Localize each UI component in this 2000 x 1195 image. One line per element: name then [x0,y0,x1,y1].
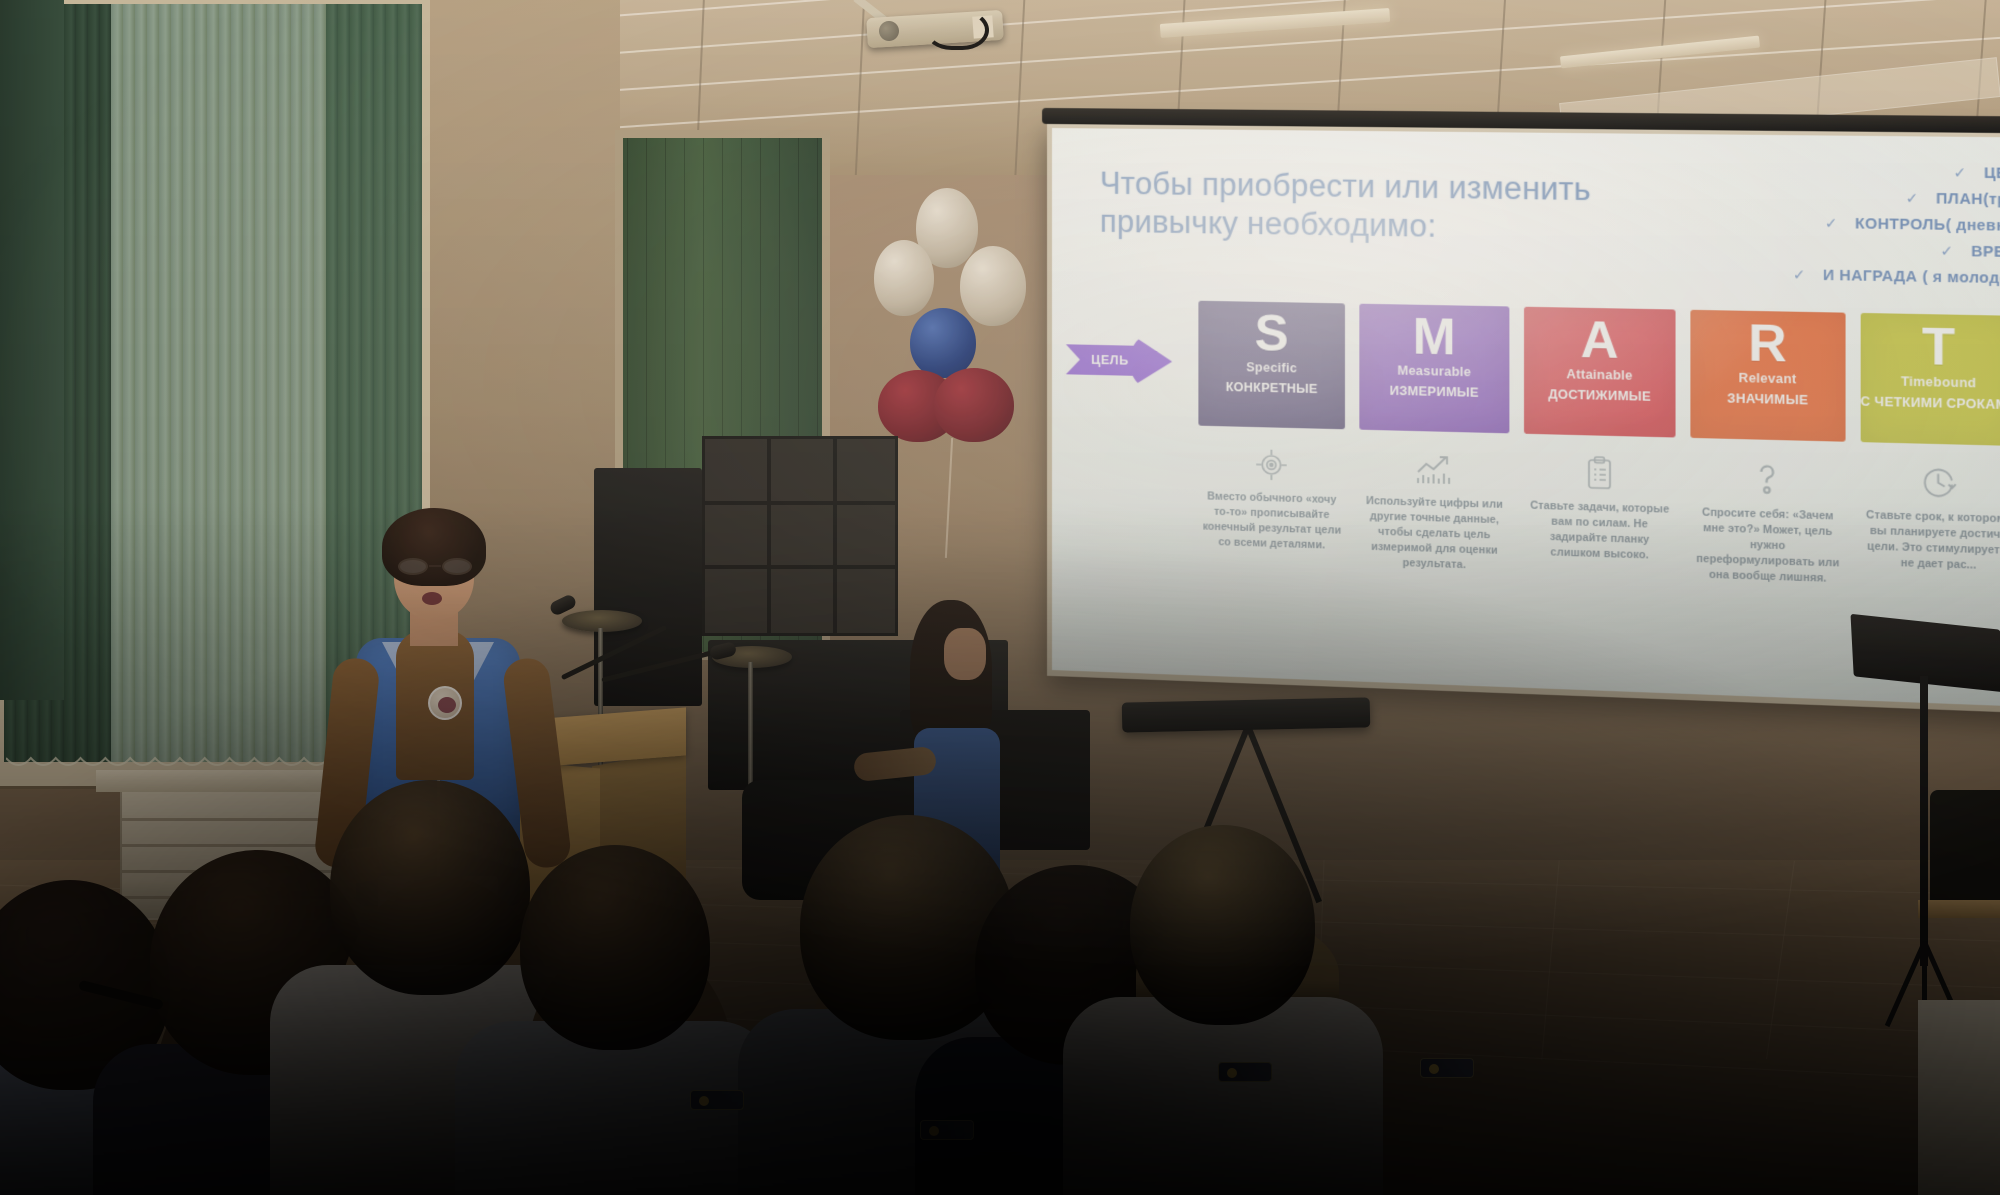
smart-russian-label: ДОСТИЖИМЫЕ [1548,387,1651,405]
check-icon: ✓ [1940,242,1953,260]
smart-column-s: SSpecificКОНКРЕТНЫЕВместо обычного «хочу… [1198,301,1345,571]
check-icon: ✓ [1905,190,1918,208]
checklist-item-5: ✓И НАГРАДА ( я молодец!) [1660,264,2000,288]
bar-chart-growth-icon [1415,451,1454,487]
smart-description: Спросите себя: «Зачем мне это?» Может, ц… [1691,505,1846,587]
audience-woman-long-hair-2-head [330,780,530,995]
smart-box-r: RRelevantЗНАЧИМЫЕ [1691,310,1846,442]
smart-description: Ставьте задачи, которые вам по силам. Не… [1524,498,1676,564]
audience [0,760,2000,1195]
audience-woman-bun-shoulders [1063,997,1383,1195]
smart-columns: SSpecificКОНКРЕТНЫЕВместо обычного «хочу… [1198,301,2000,593]
smart-box-a: AAttainableДОСТИЖИМЫЕ [1524,307,1676,438]
uniform-epaulette-3 [690,1090,744,1110]
smart-letter: S [1255,308,1289,360]
smart-russian-label: ЗНАЧИМЫЕ [1727,391,1808,409]
electronic-keyboard [1122,697,1371,732]
balloon-white-right [960,246,1026,326]
smart-letter: R [1748,317,1787,371]
clock-arrow-icon [1920,464,1957,501]
checklist-item-2: ✓ПЛАН(трек) [1660,186,2000,208]
smart-letter: M [1413,311,1456,364]
balloon-blue [910,308,976,378]
smart-english-label: Attainable [1566,367,1632,383]
target-icon [1254,447,1289,482]
slide-checklist: ✓ЦЕЛЬ✓ПЛАН(трек)✓КОНТРОЛЬ( дневник)✓ВРЕМ… [1660,161,2000,296]
checklist-item-1: ✓ЦЕЛЬ [1660,161,2000,183]
slide-title: Чтобы приобрести или изменить привычку н… [1100,165,1677,250]
smart-russian-label: КОНКРЕТНЫЕ [1226,380,1318,398]
smart-russian-label: С ЧЕТКИМИ СРОКАМИ [1861,394,2000,414]
smart-box-m: MMeasurableИЗМЕРИМЫЕ [1360,304,1509,434]
presenter-mouth [422,592,442,605]
smart-description: Используйте цифры или другие точные данн… [1360,494,1509,574]
slide-title-line-2: привычку необходимо: [1100,202,1677,249]
uniform-epaulette-1 [1218,1062,1272,1082]
check-icon: ✓ [1793,266,1806,284]
audience-woman-long-hair-3-head [520,845,710,1050]
presenter-glasses [396,558,474,576]
smart-box-s: SSpecificКОНКРЕТНЫЕ [1198,301,1345,430]
check-icon: ✓ [1953,164,1966,182]
ceiling-projector [855,8,1015,52]
smart-description: Ставьте срок, к которому вы планируете д… [1860,508,2000,575]
clipboard-checklist-icon [1585,456,1614,492]
audience-woman-bun-head [1130,825,1315,1025]
smart-description: Вместо обычного «хочу то-то» прописывайт… [1198,489,1345,554]
smart-russian-label: ИЗМЕРИМЫЕ [1390,384,1479,402]
smart-column-t: TTimeboundС ЧЕТКИМИ СРОКАМИСтавьте срок,… [1860,313,2000,593]
checklist-item-label: ВРЕМЯ [1971,243,2000,261]
checklist-item-4: ✓ВРЕМЯ [1660,238,2000,261]
seated-girl-face [944,628,986,680]
checklist-item-3: ✓КОНТРОЛЬ( дневник) [1660,212,2000,235]
smart-section: ЦЕЛЬ SSpecificКОНКРЕТНЫЕВместо обычного … [1052,298,2000,590]
smart-column-m: MMeasurableИЗМЕРИМЫЕИспользуйте цифры ил… [1360,304,1509,577]
presenter-badge [428,686,462,720]
goal-arrow: ЦЕЛЬ [1066,332,1172,388]
lecture-hall-photo: Чтобы приобрести или изменить привычку н… [0,0,2000,1195]
question-mark-icon [1753,460,1783,498]
checklist-item-label: ЦЕЛЬ [1984,165,2000,182]
window-left-edge-panel [0,0,64,700]
checklist-item-label: ПЛАН(трек) [1936,190,2000,208]
check-icon: ✓ [1825,215,1838,233]
balloon-white-left [874,240,934,316]
smart-letter: T [1922,320,1955,374]
smart-english-label: Measurable [1397,363,1471,379]
smart-column-a: AAttainableДОСТИЖИМЫЕСтавьте задачи, кот… [1524,307,1676,582]
smart-english-label: Timebound [1901,374,1977,390]
smart-column-r: RRelevantЗНАЧИМЫЕСпросите себя: «Зачем м… [1691,310,1846,587]
smart-box-t: TTimeboundС ЧЕТКИМИ СРОКАМИ [1860,313,2000,446]
uniform-epaulette-4 [920,1120,974,1140]
shelving-unit [702,436,898,636]
smart-english-label: Relevant [1739,371,1797,387]
uniform-epaulette-2 [1420,1058,1474,1078]
smart-letter: A [1581,314,1619,367]
checklist-item-label: КОНТРОЛЬ( дневник) [1855,215,2000,234]
checklist-item-label: И НАГРАДА ( я молодец!) [1823,267,2000,287]
goal-arrow-label: ЦЕЛЬ [1080,353,1140,368]
projector-cable [925,10,989,50]
balloon-red-right [934,368,1014,442]
smart-english-label: Specific [1246,360,1297,375]
